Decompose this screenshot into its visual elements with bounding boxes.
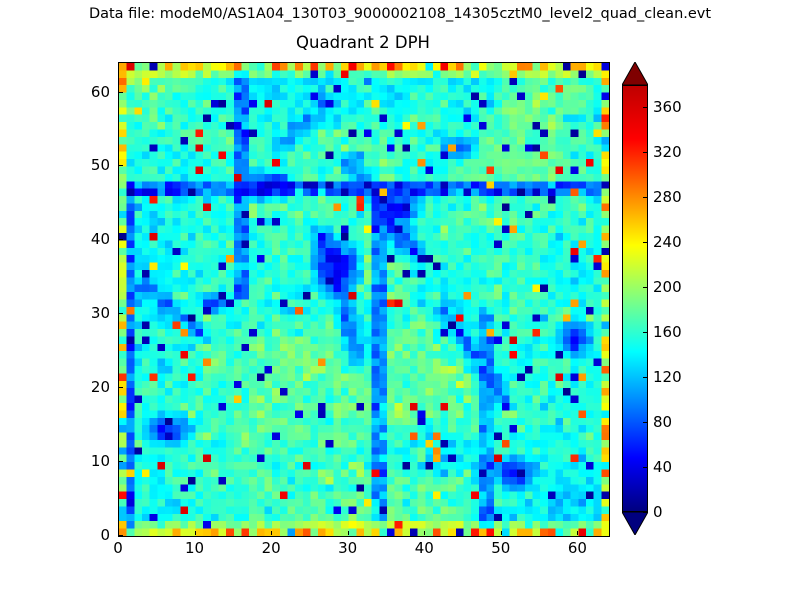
colorbar-tick-mark [643,197,648,198]
y-tick-mark [119,239,123,240]
y-tick-mark [119,165,123,166]
y-tick-label: 60 [72,83,110,101]
colorbar-tick-label: 120 [653,368,682,386]
y-tick-label: 50 [72,156,110,174]
colorbar-tick-label: 80 [653,413,672,431]
x-tick-mark [424,531,425,535]
x-tick-label: 40 [415,539,434,557]
x-tick-mark [195,531,196,535]
x-tick-mark [501,531,502,535]
colorbar-tick-label: 240 [653,233,682,251]
x-tick-label: 30 [338,539,357,557]
y-tick-label: 10 [72,452,110,470]
colorbar-tick-label: 40 [653,458,672,476]
heatmap-axes [118,62,610,537]
y-tick-mark [119,461,123,462]
colorbar: 04080120160200240280320360 [622,62,648,535]
colorbar-extend-low-arrow [622,512,648,535]
colorbar-tick-mark [643,107,648,108]
y-tick-mark [119,313,123,314]
x-tick-label: 10 [185,539,204,557]
data-file-suptitle: Data file: modeM0/AS1A04_130T03_90000021… [0,6,800,22]
colorbar-tick-mark [643,422,648,423]
colorbar-tick-mark [643,287,648,288]
y-tick-mark [119,387,123,388]
y-tick-mark [119,92,123,93]
y-tick-mark [119,535,123,536]
y-tick-label: 40 [72,230,110,248]
colorbar-tick-label: 200 [653,278,682,296]
colorbar-tick-label: 0 [653,503,663,521]
colorbar-gradient [623,86,647,511]
figure-canvas: Data file: modeM0/AS1A04_130T03_90000021… [0,0,800,600]
x-tick-label: 50 [491,539,510,557]
colorbar-tick-label: 320 [653,143,682,161]
colorbar-tick-mark [643,242,648,243]
colorbar-tick-label: 160 [653,323,682,341]
colorbar-tick-mark [643,377,648,378]
x-tick-mark [271,531,272,535]
colorbar-tick-mark [643,467,648,468]
y-tick-label: 30 [72,304,110,322]
colorbar-tick-mark [643,152,648,153]
y-tick-label: 20 [72,378,110,396]
x-tick-label: 20 [262,539,281,557]
colorbar-extend-high-arrow [622,62,648,85]
x-tick-label: 0 [113,539,123,557]
colorbar-tick-label: 280 [653,188,682,206]
plot-title: Quadrant 2 DPH [118,33,608,52]
x-tick-label: 60 [568,539,587,557]
y-tick-label: 0 [72,526,110,544]
colorbar-tick-mark [643,512,648,513]
heatmap-image [119,63,609,536]
x-tick-mark [348,531,349,535]
x-tick-mark [577,531,578,535]
colorbar-tick-mark [643,332,648,333]
colorbar-tick-label: 360 [653,98,682,116]
colorbar-gradient-body [622,85,648,512]
